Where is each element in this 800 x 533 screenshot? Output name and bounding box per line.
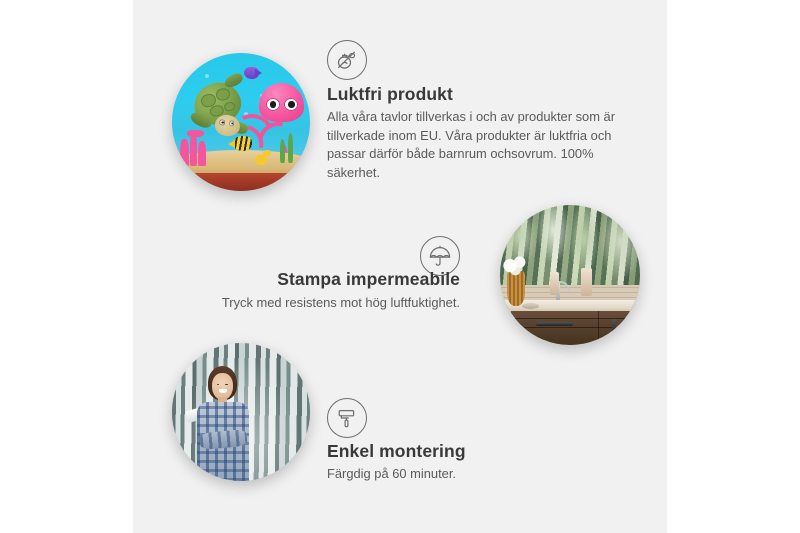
fish-yellow — [233, 136, 252, 151]
forest-mural-scene — [172, 343, 310, 481]
soap-dish — [522, 303, 539, 309]
page-background: Luktfri produkt Alla våra tavlor tillver… — [0, 0, 800, 533]
woman-smile — [219, 389, 227, 393]
feature-body-easy-mounting: Färgdig på 60 minuter. — [327, 465, 622, 484]
feature-image-waterproof — [500, 205, 640, 345]
umbrella-icon — [427, 243, 453, 269]
feature-body-waterproof: Tryck med resistens mot hög luftfuktighe… — [133, 294, 460, 313]
content-panel: Luktfri produkt Alla våra tavlor tillver… — [133, 0, 667, 533]
wooden-vanity — [511, 311, 640, 345]
no-fragrance-icon — [334, 47, 360, 73]
soap-dispenser-right — [581, 268, 592, 296]
white-flowers — [501, 253, 530, 277]
underwater-scene — [172, 53, 310, 191]
no-fragrance-icon-circle — [327, 40, 367, 80]
woman-face — [212, 373, 233, 399]
bathroom-scene — [500, 205, 640, 345]
soap-dispenser-left — [550, 272, 558, 294]
feature-image-easy-mounting — [172, 343, 310, 481]
feature-title-easy-mounting: Enkel montering — [327, 441, 466, 462]
feature-body-odourless: Alla våra tavlor tillverkas i och av pro… — [327, 108, 622, 182]
feature-title-waterproof: Stampa impermeabile — [133, 269, 460, 290]
paint-roller-icon-circle — [327, 398, 367, 438]
sea-floor-rocks — [172, 173, 310, 191]
fish-purple — [244, 67, 259, 79]
feature-image-odourless — [172, 53, 310, 191]
paint-roller-icon — [334, 405, 360, 431]
octopus-head — [259, 83, 305, 122]
feature-title-odourless: Luktfri produkt — [327, 84, 453, 105]
